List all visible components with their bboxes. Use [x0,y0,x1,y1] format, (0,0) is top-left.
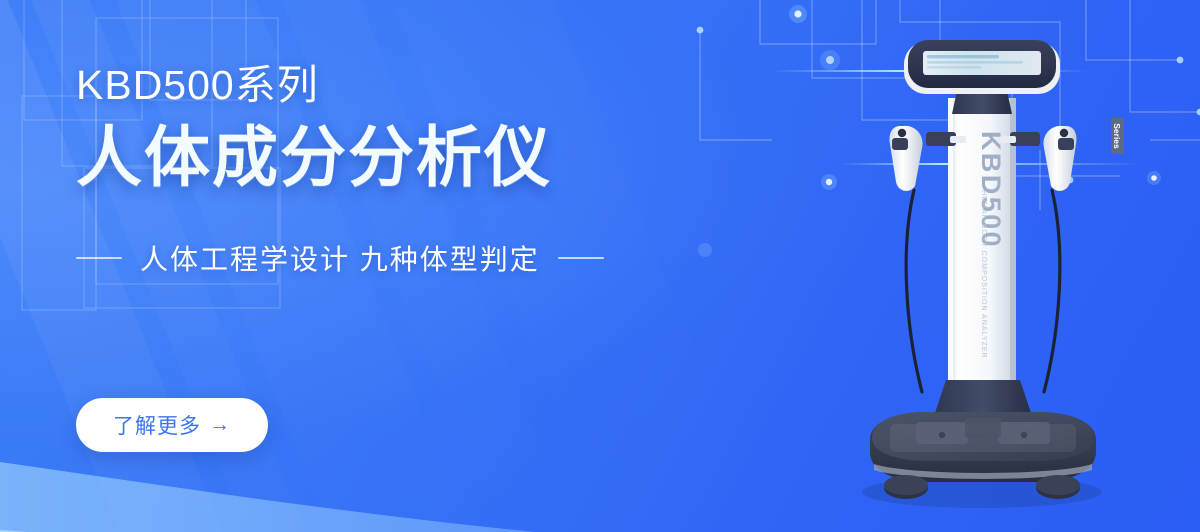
arrow-right-icon: → [209,413,231,437]
learn-more-label: 了解更多 [113,410,201,440]
hero-subtitle: 人体工程学设计 九种体型判定 [140,238,540,278]
page-title: 人体成分分析仪 [76,121,716,194]
divider-left [76,257,122,259]
device-series-badge: Series [1112,123,1122,149]
device-description-text: HUMAN BODY COMPOSITION ANALYZER [980,190,989,359]
divider-right [558,257,604,259]
learn-more-button[interactable]: 了解更多 → [76,398,268,452]
product-series-label: KBD500系列 [76,62,716,109]
product-hero-banner: KBD500系列 人体成分分析仪 人体工程学设计 九种体型判定 了解更多 → [0,0,1200,532]
product-image-body-composition-analyzer: KBD500 Series HUMAN BODY COMPOSITION ANA… [830,40,1130,520]
hero-copy: KBD500系列 人体成分分析仪 人体工程学设计 九种体型判定 [76,62,716,278]
subtitle-row: 人体工程学设计 九种体型判定 [76,238,716,278]
